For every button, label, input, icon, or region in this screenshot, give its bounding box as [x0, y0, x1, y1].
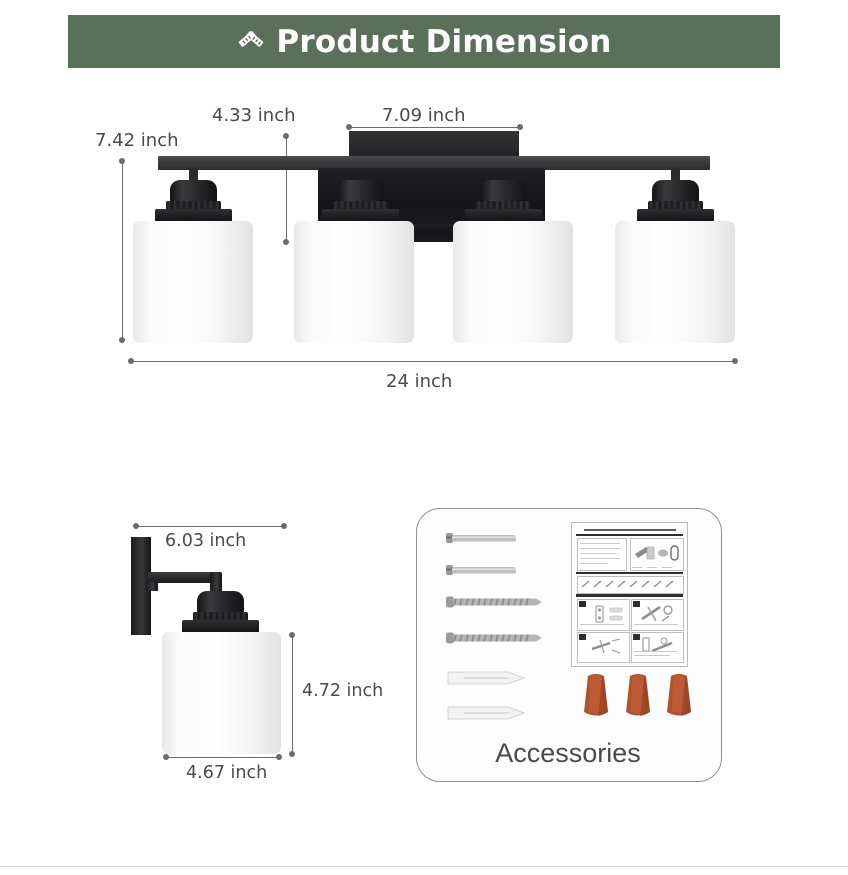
dimension-endpoint [283, 239, 289, 245]
dimension-endpoint [163, 754, 169, 760]
dimension-line-projection [286, 136, 287, 242]
machine-screw-icon [446, 562, 518, 578]
dimension-line-extension [136, 526, 284, 527]
dimension-label-extension: 6.03 inch [165, 531, 246, 551]
wall-anchor-icon [446, 668, 526, 688]
dimension-endpoint [276, 754, 282, 760]
center-mount-block [349, 131, 519, 158]
dimension-label-shade-height: 4.72 inch [302, 681, 383, 701]
dimension-endpoint [289, 632, 295, 638]
arm-bracket [146, 582, 158, 591]
glass-shade-2 [294, 221, 414, 343]
glass-shade-1 [133, 221, 253, 343]
wire-nut-icon [661, 672, 697, 724]
dimension-label-backplate-width: 7.09 inch [382, 105, 466, 126]
dimension-endpoint [732, 358, 738, 364]
wood-screw-icon [446, 630, 542, 646]
dimension-endpoint [128, 358, 134, 364]
banner-title: Product Dimension [276, 24, 611, 60]
dimension-line-shade-height [292, 635, 293, 754]
dimension-endpoint [119, 158, 125, 164]
glass-shade-side [162, 632, 281, 754]
footer-divider [0, 866, 848, 867]
wire-nut-icon [620, 672, 656, 724]
dimension-endpoint [289, 751, 295, 757]
dimension-line-backplate-width [349, 127, 520, 128]
dimension-endpoint [517, 124, 523, 130]
dimension-label-width: 24 inch [386, 371, 452, 392]
wire-nut-icon [578, 672, 614, 724]
dimension-label-height: 7.42 inch [95, 130, 179, 151]
product-dimension-banner: Product Dimension [68, 15, 780, 68]
ruler-pencil-icon [236, 24, 266, 59]
dimension-label-projection: 4.33 inch [212, 105, 296, 126]
glass-shade-3 [453, 221, 573, 343]
dimension-endpoint [133, 523, 139, 529]
wood-screw-icon [446, 594, 542, 610]
dimension-endpoint [283, 133, 289, 139]
glass-shade-4 [615, 221, 735, 343]
dimension-endpoint [281, 523, 287, 529]
dimension-endpoint [346, 124, 352, 130]
accessories-label: Accessories [416, 738, 720, 769]
instruction-manual-icon [571, 522, 688, 667]
dimension-label-shade-width: 4.67 inch [186, 763, 267, 783]
dimension-endpoint [119, 337, 125, 343]
dimension-line-shade-width [166, 757, 279, 758]
machine-screw-icon [446, 530, 518, 546]
wall-anchor-icon [446, 703, 526, 723]
dimension-line-width [131, 361, 735, 362]
dimension-line-height [122, 161, 123, 340]
